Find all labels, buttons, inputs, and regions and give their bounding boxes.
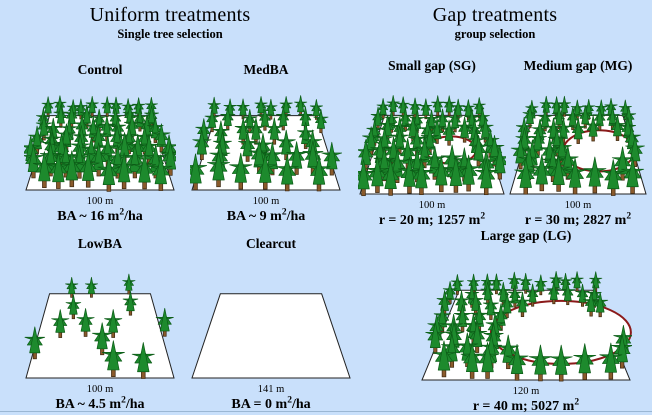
plot-stage-control — [24, 82, 176, 194]
plot-caption-large-gap: r = 40 m; 5027 m2 — [420, 399, 632, 415]
plot-medba: MedBA100 mBA ~ 9 m2/ha — [190, 62, 342, 220]
plot-lowba: LowBA100 mBA ~ 4.5 m2/ha — [24, 236, 176, 408]
caption-superscript: 2 — [287, 395, 292, 405]
plot-stage-clearcut — [190, 256, 352, 382]
caption-superscript: 2 — [282, 207, 287, 217]
plot-caption-small-gap: r = 20 m; 1257 m2 — [358, 213, 506, 229]
caption-superscript: 2 — [121, 395, 126, 405]
plot-control: Control100 mBA ~ 16 m2/ha — [24, 62, 176, 220]
plot-title-lowba: LowBA — [24, 236, 176, 252]
plot-title-clearcut: Clearcut — [190, 236, 352, 252]
plot-stage-medba — [190, 82, 342, 194]
plot-title-large-gap: Large gap (LG) — [420, 228, 632, 244]
header-gap-title: Gap treatments — [385, 4, 605, 27]
plot-width-label-medba: 100 m — [190, 196, 342, 207]
plot-stage-small-gap — [358, 80, 506, 198]
plot-stage-medium-gap — [508, 80, 648, 198]
caption-superscript: 2 — [626, 211, 631, 221]
caption-superscript: 2 — [119, 207, 124, 217]
plot-width-label-control: 100 m — [24, 196, 176, 207]
plot-medium-gap: Medium gap (MG)100 mr = 30 m; 2827 m2 — [508, 58, 648, 220]
plot-width-label-large-gap: 120 m — [420, 386, 632, 397]
plot-caption-control: BA ~ 16 m2/ha — [24, 209, 176, 225]
plot-stage-lowba — [24, 256, 176, 382]
plot-clearcut: Clearcut141 mBA = 0 m2/ha — [190, 236, 352, 408]
plot-title-medium-gap: Medium gap (MG) — [508, 58, 648, 74]
header-uniform-subtitle: Single tree selection — [60, 27, 280, 42]
plot-caption-medium-gap: r = 30 m; 2827 m2 — [508, 213, 648, 229]
plot-title-control: Control — [24, 62, 176, 78]
header-gap: Gap treatments group selection — [385, 4, 605, 42]
header-uniform: Uniform treatments Single tree selection — [60, 4, 280, 42]
caption-superscript: 2 — [480, 211, 485, 221]
plot-width-label-small-gap: 100 m — [358, 200, 506, 211]
plot-stage-large-gap — [420, 250, 632, 384]
plot-width-label-clearcut: 141 m — [190, 384, 352, 395]
plot-caption-clearcut: BA = 0 m2/ha — [190, 397, 352, 413]
plot-title-small-gap: Small gap (SG) — [358, 58, 506, 74]
caption-superscript: 2 — [574, 397, 579, 407]
plot-caption-medba: BA ~ 9 m2/ha — [190, 209, 342, 225]
plot-width-label-medium-gap: 100 m — [508, 200, 648, 211]
plot-caption-lowba: BA ~ 4.5 m2/ha — [24, 397, 176, 413]
plot-small-gap: Small gap (SG)100 mr = 20 m; 1257 m2 — [358, 58, 506, 220]
header-gap-subtitle: group selection — [385, 27, 605, 42]
plot-title-medba: MedBA — [190, 62, 342, 78]
header-uniform-title: Uniform treatments — [60, 4, 280, 27]
figure-canvas: Uniform treatments Single tree selection… — [0, 0, 652, 412]
plot-width-label-lowba: 100 m — [24, 384, 176, 395]
plot-large-gap: Large gap (LG)120 mr = 40 m; 5027 m2 — [420, 228, 632, 408]
